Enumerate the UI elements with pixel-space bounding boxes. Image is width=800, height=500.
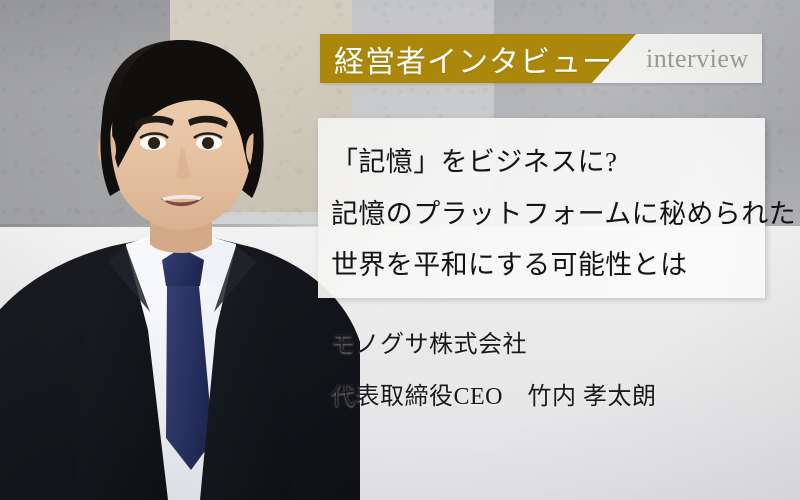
headline-panel: 「記憶」をビジネスに? 記憶のプラットフォームに秘められた 世界を平和にする可能…: [318, 118, 765, 298]
category-label-japanese: 経営者インタビュー: [334, 37, 613, 81]
category-banner: 経営者インタビュー interview: [320, 34, 762, 83]
headline-line-3: 世界を平和にする可能性とは: [331, 243, 687, 282]
category-label-english: interview: [646, 44, 749, 74]
interview-key-visual: 経営者インタビュー interview 「記憶」をビジネスに? 記憶のプラットフ…: [0, 0, 800, 500]
company-name: モノグサ株式会社: [331, 324, 527, 359]
headline-line-2: 記憶のプラットフォームに秘められた: [331, 192, 796, 231]
role-and-person-name: 代表取締役CEO 竹内 孝太朗: [331, 376, 657, 411]
executive-portrait-photo: [0, 0, 360, 500]
headline-line-1: 「記憶」をビジネスに?: [331, 140, 617, 179]
